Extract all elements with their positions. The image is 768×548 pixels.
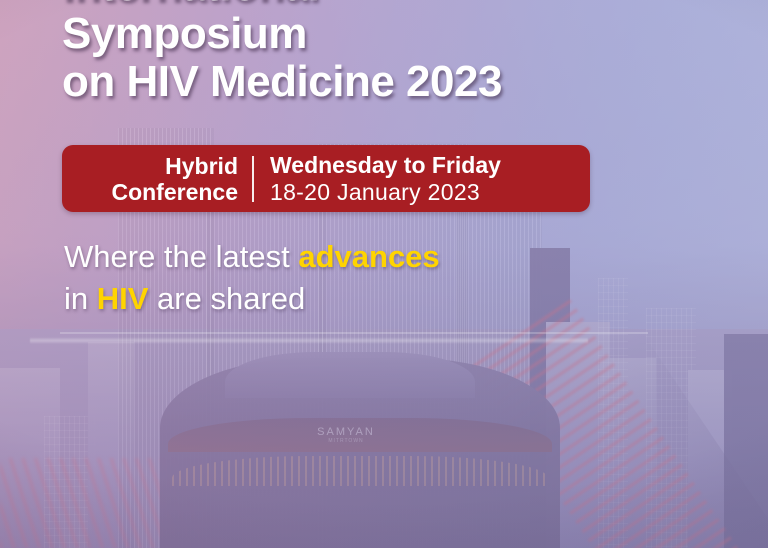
- poster-content: International Symposium on HIV Medicine …: [0, 0, 768, 548]
- conference-dates: 18-20 January 2023: [270, 179, 501, 206]
- tagline-line-1: Where the latest advances: [64, 236, 440, 278]
- tagline: Where the latest advances in HIV are sha…: [64, 236, 440, 320]
- tagline-part-2: in: [64, 281, 97, 316]
- tagline-line-2: in HIV are shared: [64, 278, 440, 320]
- conference-info-banner: Hybrid Conference Wednesday to Friday 18…: [62, 145, 590, 212]
- tagline-part-3: are shared: [148, 281, 305, 316]
- conference-date-block: Wednesday to Friday 18-20 January 2023: [254, 152, 501, 206]
- conference-mode-label: Hybrid Conference: [62, 153, 252, 205]
- tagline-highlight-hiv: HIV: [97, 281, 149, 316]
- conference-days: Wednesday to Friday: [270, 152, 501, 179]
- page-title: International Symposium on HIV Medicine …: [62, 0, 502, 106]
- tagline-highlight-advances: advances: [298, 239, 439, 274]
- tagline-part-1: Where the latest: [64, 239, 298, 274]
- conference-poster: SAMYAN MITRTOWN International Symposium …: [0, 0, 768, 548]
